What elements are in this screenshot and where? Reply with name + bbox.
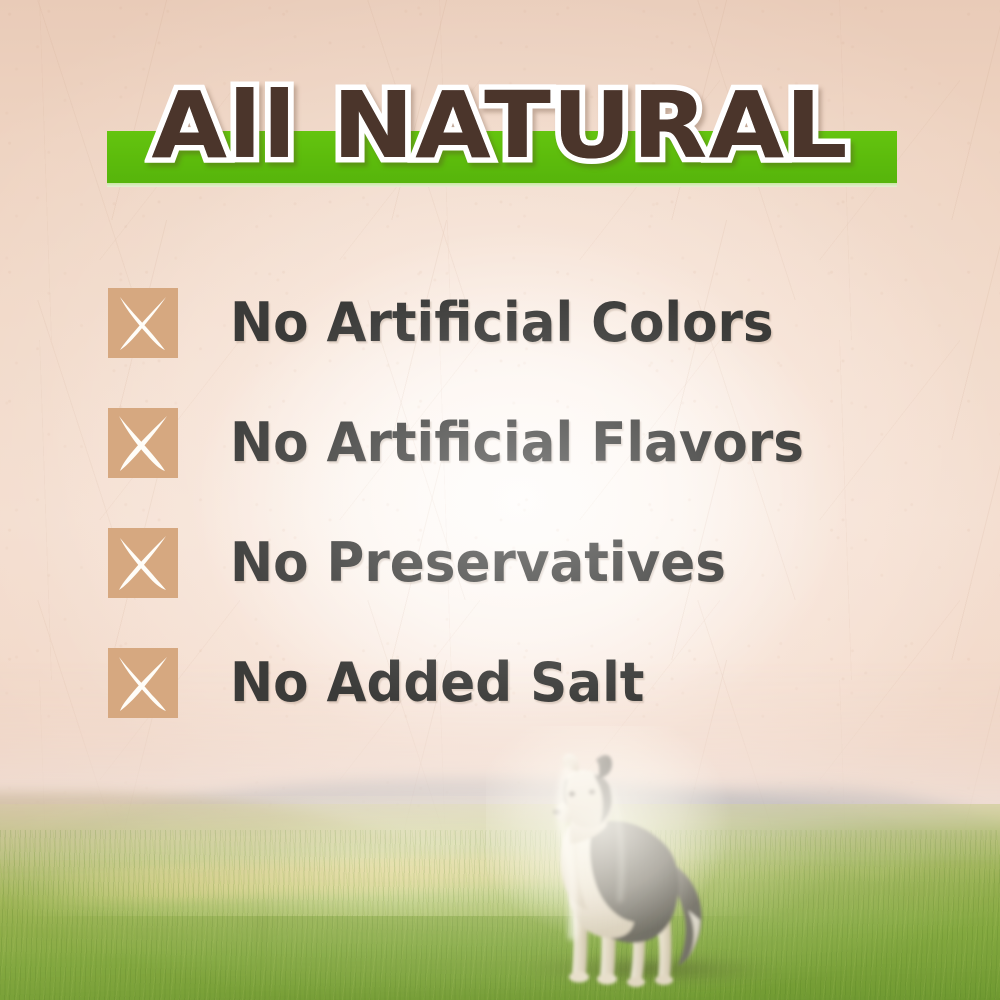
x-mark-icon (108, 528, 178, 598)
page-title-text: All NATURAL (0, 72, 1000, 180)
claim-label: No Artificial Flavors (230, 416, 804, 470)
x-mark-icon (108, 648, 178, 718)
claim-row: No Artificial Colors (108, 263, 928, 383)
claim-label: No Artificial Colors (230, 296, 774, 350)
claim-row: No Added Salt (108, 623, 928, 743)
claim-list: No Artificial Colors No Artificial Flavo… (108, 263, 928, 743)
x-mark-icon (108, 288, 178, 358)
page-title: All NATURAL (0, 72, 1000, 180)
border-collie-dog (520, 750, 740, 1000)
poster-canvas: All NATURAL All NATURAL No Artificial Co… (0, 0, 1000, 1000)
x-mark-icon (108, 408, 178, 478)
claim-row: No Preservatives (108, 503, 928, 623)
claim-label: No Added Salt (230, 656, 644, 710)
headline-banner-edge (107, 183, 897, 187)
claim-row: No Artificial Flavors (108, 383, 928, 503)
claim-label: No Preservatives (230, 536, 726, 590)
